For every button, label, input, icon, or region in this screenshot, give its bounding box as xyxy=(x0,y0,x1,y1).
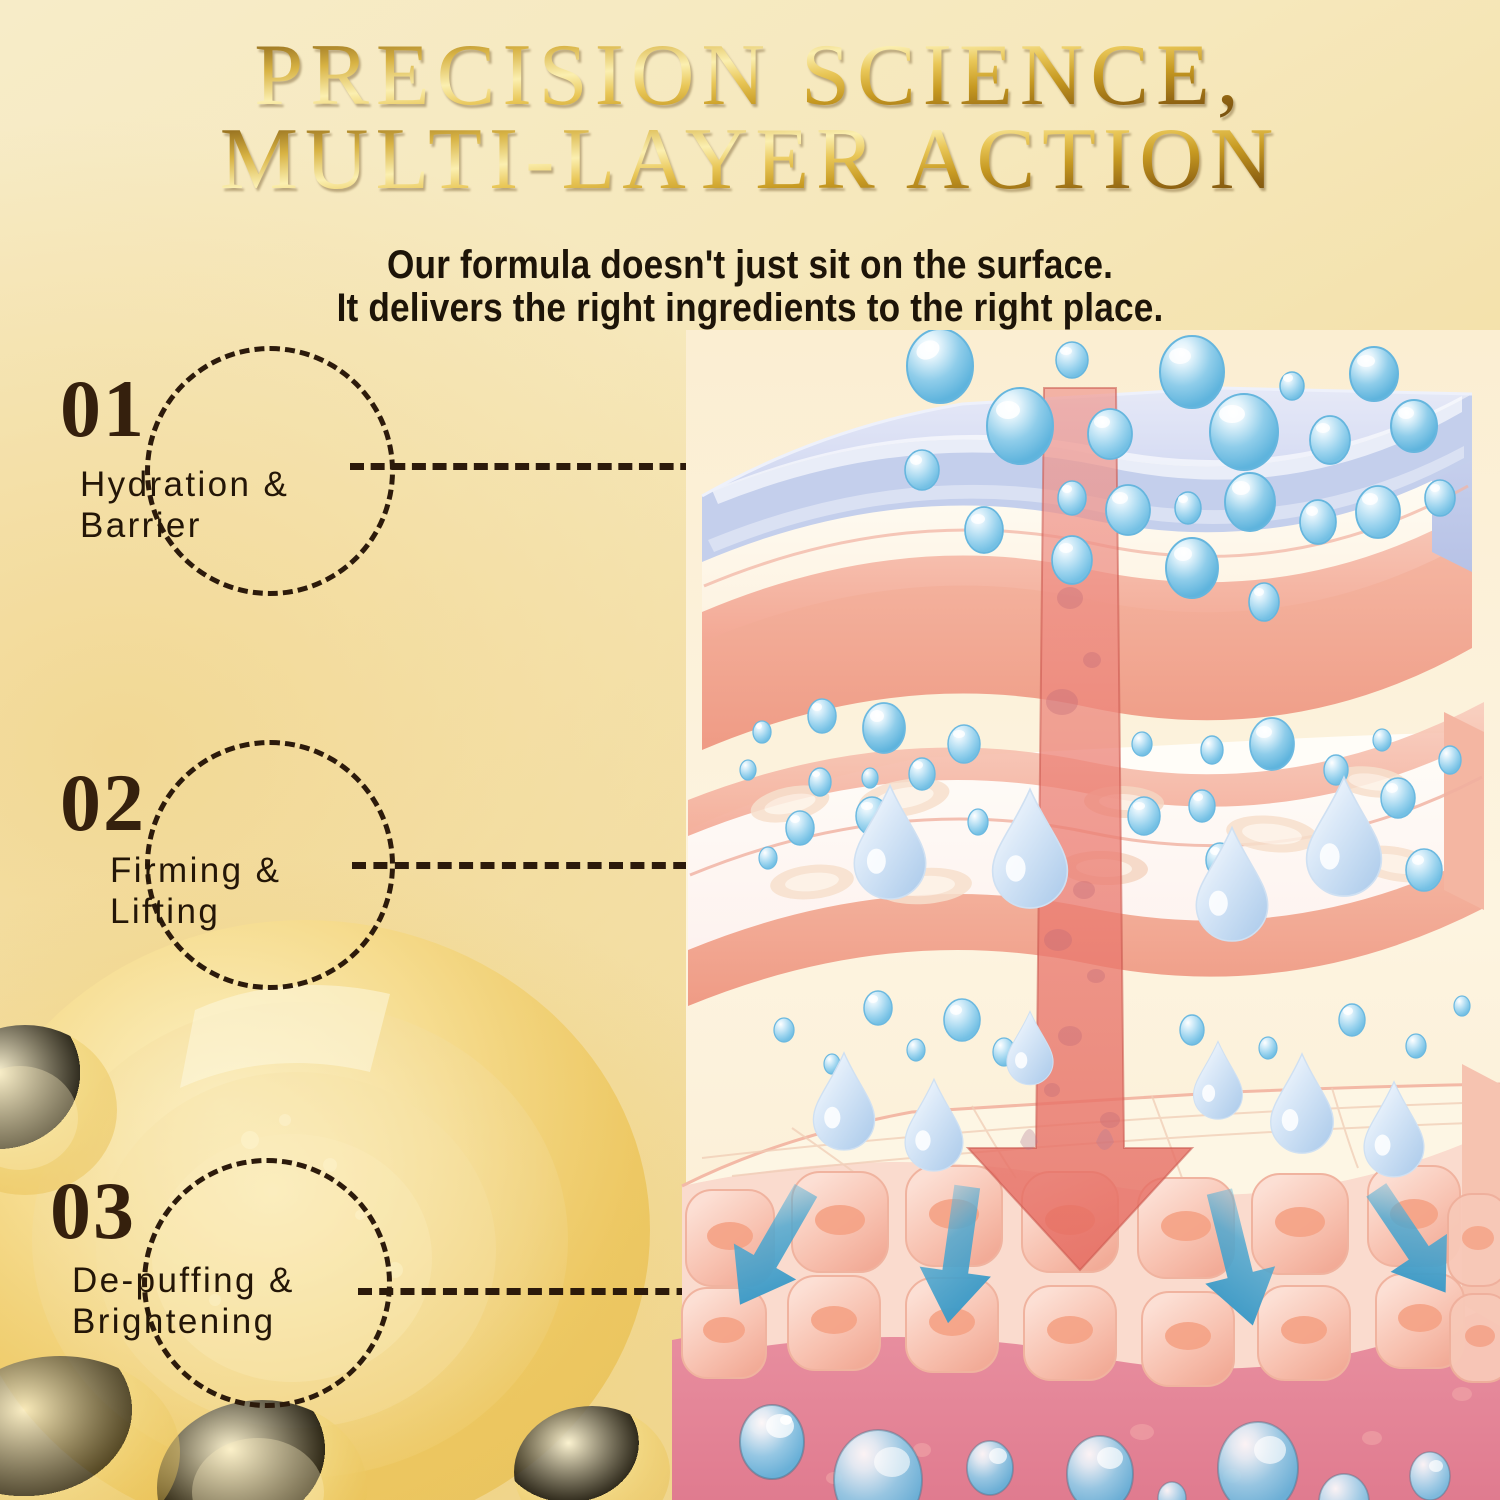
callout-03-number: 03 xyxy=(50,1170,136,1252)
callout-02-label-line2: Lifting xyxy=(110,891,281,932)
callout-01-label: Hydration & Barrier xyxy=(80,464,289,546)
page-subtitle: Our formula doesn't just sit on the surf… xyxy=(90,244,1410,330)
title-line-1: PRECISION SCIENCE, xyxy=(0,34,1500,118)
page-title: PRECISION SCIENCE, MULTI-LAYER ACTION xyxy=(0,34,1500,202)
callout-01-number: 01 xyxy=(60,368,146,450)
skin-cross-section-diagram xyxy=(672,330,1500,1500)
callout-03-label: De-puffing & Brightening xyxy=(72,1260,295,1342)
callout-01-label-line2: Barrier xyxy=(80,505,289,546)
callout-01[interactable]: 01 Hydration & Barrier xyxy=(90,338,510,618)
title-line-2: MULTI-LAYER ACTION xyxy=(0,118,1500,202)
subtitle-line-2: It delivers the right ingredients to the… xyxy=(90,287,1410,330)
callout-01-label-line1: Hydration & xyxy=(80,465,289,504)
callout-02-number: 02 xyxy=(60,762,146,844)
callout-03-label-line2: Brightening xyxy=(72,1301,295,1342)
callout-02-label-line1: Firming & xyxy=(110,851,281,890)
subtitle-line-1: Our formula doesn't just sit on the surf… xyxy=(90,244,1410,287)
callout-02-label: Firming & Lifting xyxy=(110,850,281,932)
callout-03-label-line1: De-puffing & xyxy=(72,1261,295,1300)
callout-02[interactable]: 02 Firming & Lifting xyxy=(90,732,510,1012)
